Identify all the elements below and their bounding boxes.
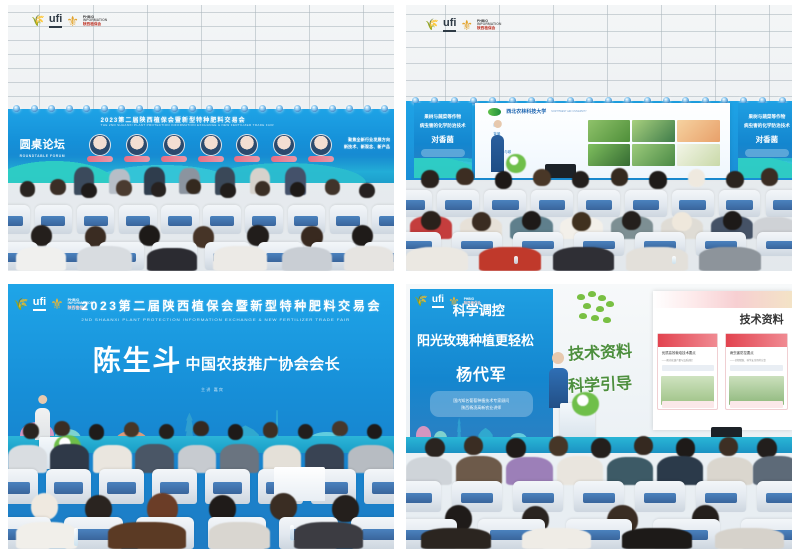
script-text-line1: 技术资料	[568, 338, 633, 365]
deck-card-cap	[726, 334, 787, 348]
banner-title-en: THE 2ND SHAANXI PLANT PROTECTION INFORMA…	[101, 124, 274, 128]
deck-card1-sub: ——阳光玫瑰产量与品质调控	[662, 358, 693, 362]
pillar-pill-line2: 陕西杨凌高新农业讲师	[461, 405, 501, 411]
ufi-logo: 🌾 ufi ⚜ PHBIO INFORMATION 陕西植保会	[31, 14, 107, 28]
script-text-line2: 科学引导	[568, 369, 633, 396]
deck-title: 技术资料	[740, 311, 784, 327]
pillar-pill-line1: 国内知名葡萄种植技术专家顾问	[453, 398, 509, 404]
photo-keynote-chen-shengdou[interactable]: 🌾 ufi ⚜ PHBIO INFORMATION 陕西植保会 2023第二届陕…	[8, 284, 394, 550]
organiser-name-cn: 陕西植保会	[477, 27, 501, 31]
ufi-logo-text: ufi	[33, 297, 46, 311]
wheat-icon: 🌾	[31, 16, 45, 27]
organiser-logo-name: PHBIO INFORMATION 陕西植保会	[477, 20, 501, 31]
slide-org-name: 西北农林科技大学	[506, 108, 546, 115]
deck-card2-sub: ——全程精准、科学安全用药方案	[730, 358, 766, 362]
slide-title-bar: 西北农林科技大学 NORTHWEST A&F UNIVERSITY	[488, 107, 717, 117]
pillar-line2-right: 病虫害的化学防治技术	[741, 123, 792, 129]
grape-vine-graphic	[564, 289, 626, 337]
stage-light-bar	[8, 104, 394, 113]
banner-right-line1: 聚焦全新行业发展方向	[348, 137, 390, 143]
panelist-avatar	[163, 134, 185, 156]
panelist-avatar	[126, 134, 148, 156]
deck-card: 优质高效栽培技术要点 ——阳光玫瑰产量与品质调控	[657, 333, 718, 410]
panelist-avatar-row	[89, 132, 332, 157]
deck-card-cap	[658, 334, 717, 348]
panelist-avatar	[310, 134, 332, 156]
audience-crowd	[8, 416, 394, 549]
deck-card-chart	[662, 365, 714, 371]
ufi-logo-text: ufi	[443, 18, 456, 32]
keynote-speaker-name: 陈生斗	[93, 339, 182, 379]
stage-flowers	[572, 392, 599, 415]
audience-crowd	[406, 432, 792, 549]
water-bottle	[290, 525, 294, 541]
audience-crowd	[8, 175, 394, 271]
banner-right-line2: 新技术、新观念、新产品	[344, 144, 390, 150]
pillar-subtitle-pill	[421, 149, 465, 157]
deck-card-footer	[730, 401, 783, 409]
slide-thumb	[632, 144, 675, 166]
slide-image-grid	[588, 120, 720, 166]
photo-technical-lecture[interactable]: 🌾 ufi ⚜ PHBIO INFORMATION 陕西植保会 果树与蔬菜等作物…	[406, 5, 792, 271]
keynote-speaker-title: 中国农技推广协会会长	[186, 353, 341, 374]
slide-deck: 技术资料 优质高效栽培技术要点 ——阳光玫瑰产量与品质调控 病虫害防控要点 ——…	[653, 291, 792, 429]
organiser-name-cn: 陕西植保会	[83, 23, 107, 27]
deck-header-band	[653, 291, 792, 308]
organiser-logo-name: PHBIO INFORMATION 陕西植保会	[83, 16, 107, 27]
photo-lecture-yang-daijun[interactable]: 🌾 ufi ⚜ PHBIO 陕西植保会 科学调控 阳光玫瑰种植更轻松 杨代军 国…	[406, 284, 792, 550]
forum-badge-en: ROUNDTABLE FORUM	[20, 154, 66, 158]
pillar-line2: 病虫害的化学防治技术	[417, 123, 468, 129]
slide-thumb	[588, 144, 631, 166]
pillar-speaker-name: 杨代军	[410, 361, 553, 385]
panelist-avatar	[236, 134, 258, 156]
keynote-speaker-note: 主讲 嘉宾	[201, 387, 224, 393]
wheat-icon: 🌾	[14, 298, 29, 310]
left-banner-pillar: 🌾 ufi ⚜ PHBIO 陕西植保会 科学调控 阳光玫瑰种植更轻松 杨代军 国…	[410, 289, 553, 454]
audience-crowd	[406, 164, 792, 270]
ufi-logo-text: ufi	[432, 295, 444, 308]
photo-roundtable-forum[interactable]: 🌾 ufi ⚜ PHBIO INFORMATION 陕西植保会 2023第二届陕…	[8, 5, 394, 271]
pillar-line1: 科学调控	[453, 300, 505, 319]
deck-card1-head: 优质高效栽培技术要点	[662, 350, 696, 355]
banner-title-cn: 2023第二届陕西植保会暨新型特种肥料交易会	[81, 297, 382, 314]
photo-grid: 🌾 ufi ⚜ PHBIO INFORMATION 陕西植保会 2023第二届陕…	[8, 5, 792, 549]
slide-thumb	[588, 120, 631, 142]
pillar-subtitle-pill-right	[745, 149, 789, 157]
deck-card: 病虫害防控要点 ——全程精准、科学安全用药方案	[725, 333, 788, 410]
slide-org-name-en: NORTHWEST A&F UNIVERSITY	[551, 110, 587, 113]
laurel-icon: ⚜	[50, 297, 63, 312]
ufi-logo-text: ufi	[49, 14, 62, 28]
deck-card2-head: 病虫害防控要点	[730, 350, 754, 355]
panelist-avatar	[89, 134, 111, 156]
banner-title-en: 2ND SHAANXI PLANT PROTECTION INFORMATION…	[81, 317, 350, 322]
forum-badge-cn: 圆桌论坛	[20, 139, 66, 151]
leaf-icon	[488, 108, 501, 116]
panelist-avatar	[200, 134, 222, 156]
laurel-icon: ⚜	[66, 14, 79, 28]
water-bottle	[672, 256, 676, 264]
wheat-icon: 🌾	[414, 296, 428, 307]
slide-thumb	[632, 120, 675, 142]
slide-thumb	[677, 120, 720, 142]
deck-card-chart	[730, 365, 783, 371]
laurel-icon: ⚜	[460, 18, 473, 32]
water-bottle	[74, 528, 78, 547]
panelist-avatar	[273, 134, 295, 156]
roundtable-forum-badge: 圆桌论坛 ROUNDTABLE FORUM	[20, 135, 66, 158]
pillar-speaker-name: 对香菌	[417, 134, 468, 145]
water-bottle	[514, 256, 518, 264]
deck-card-footer	[662, 401, 714, 409]
wheat-icon: 🌾	[425, 20, 439, 31]
pillar-line1: 果树与蔬菜等作物	[417, 114, 468, 120]
pillar-line2: 阳光玫瑰种植更轻松	[417, 330, 534, 349]
pillar-line1-right: 果树与蔬菜等作物	[741, 114, 792, 120]
ufi-logo: 🌾 ufi ⚜ PHBIO INFORMATION 陕西植保会	[425, 18, 501, 32]
pillar-speaker-name-right: 对香菌	[741, 134, 792, 145]
slide-thumb	[677, 144, 720, 166]
